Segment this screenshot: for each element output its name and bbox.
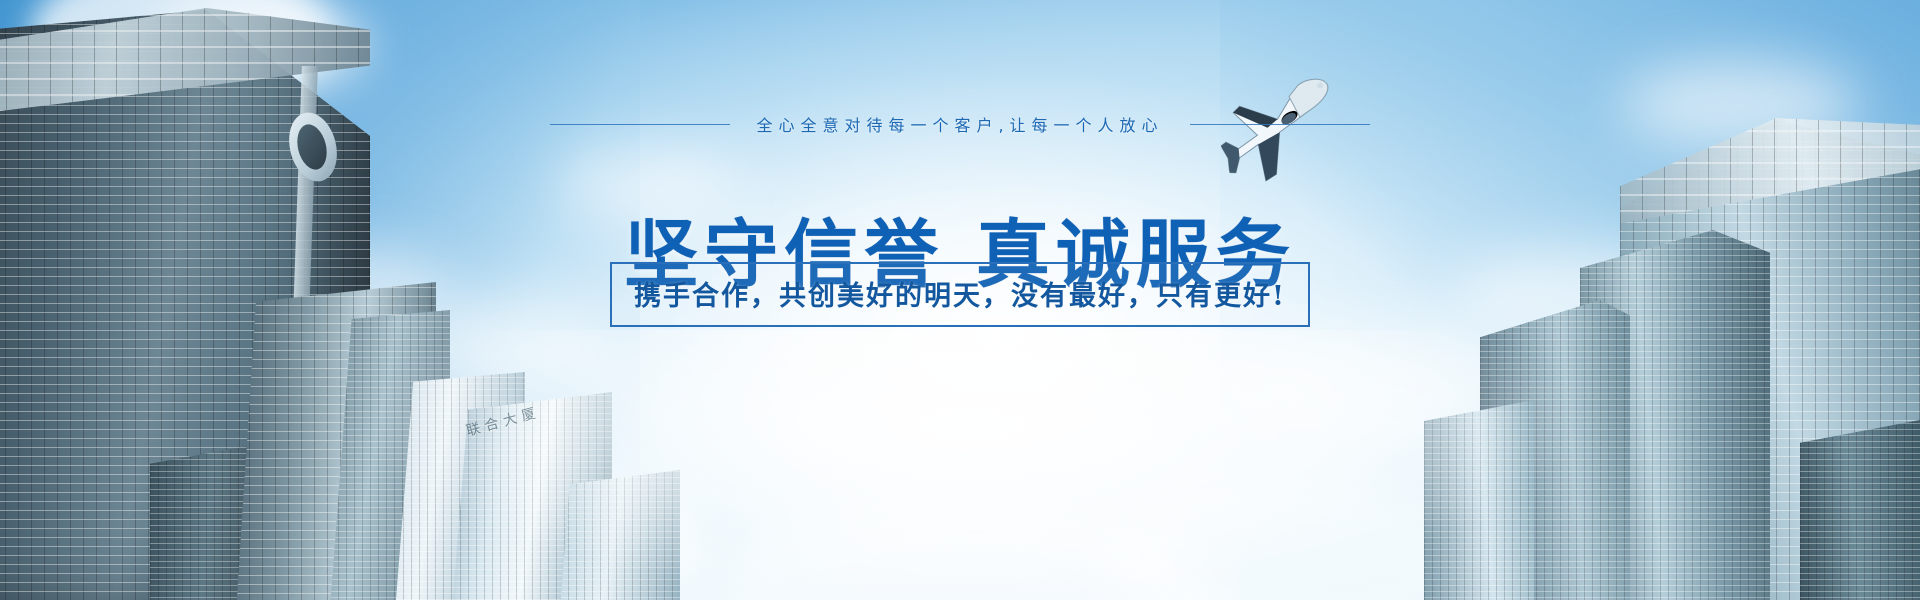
building-block-right-edge — [1800, 420, 1920, 600]
building-window-grid — [1800, 420, 1920, 600]
subtitle-wrapper: 携手合作，共创美好的明天，没有最好，只有更好! — [0, 262, 1920, 327]
subtitle-text: 携手合作，共创美好的明天，没有最好，只有更好! — [610, 262, 1310, 327]
hero-banner: 联合大厦 — [0, 0, 1920, 600]
building-window-grid — [1424, 400, 1534, 600]
tagline-row: 全心全意对待每一个客户,让每一个人放心 — [0, 112, 1920, 136]
building-block-right-inner — [1424, 400, 1534, 600]
cloud-shape — [560, 150, 740, 220]
building-block-foreground-center — [560, 470, 680, 600]
tagline-text: 全心全意对待每一个客户,让每一个人放心 — [756, 112, 1163, 136]
decorative-line-right-icon — [1190, 124, 1370, 125]
building-window-grid — [560, 470, 680, 600]
decorative-line-left-icon — [550, 124, 730, 125]
